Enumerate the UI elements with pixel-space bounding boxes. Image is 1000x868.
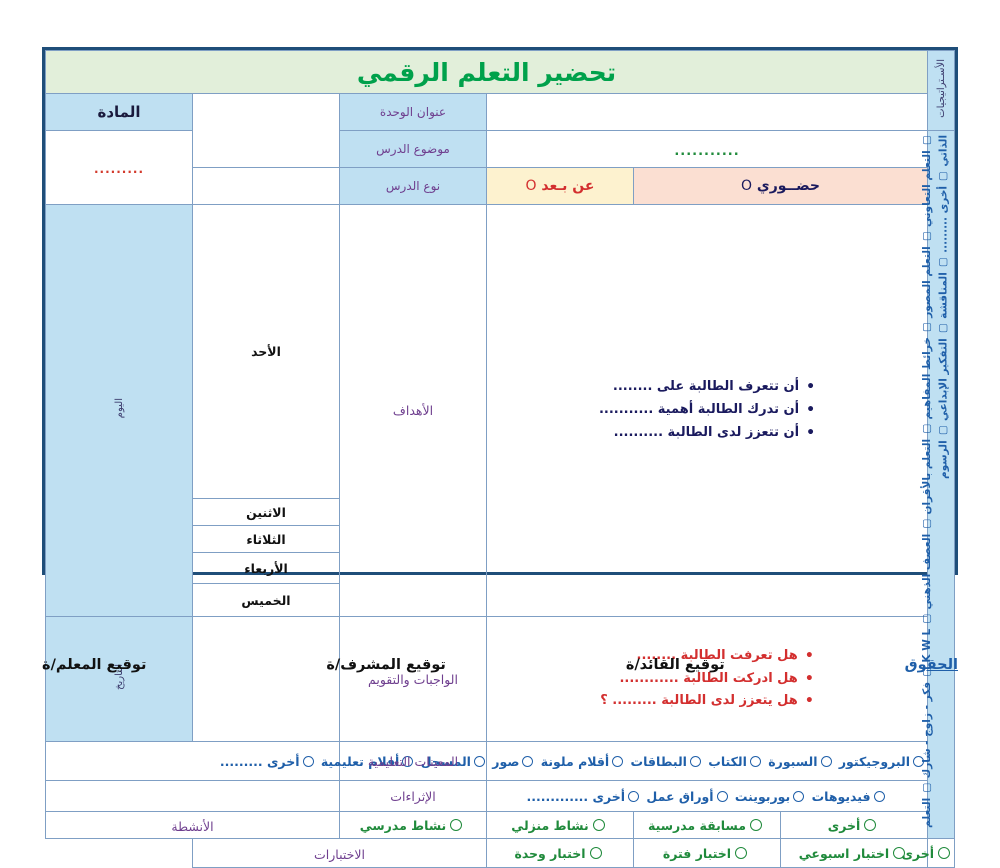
subject-blank-cell[interactable] [193,94,340,168]
day-column-label: اليوم [114,398,125,418]
trailing-dots: ......... [220,754,263,769]
option-label: السبورة [764,754,818,769]
option-label: فيديوهات [807,789,870,804]
day-cell-wednesday[interactable]: الأربعاء [193,553,340,584]
document-title-cell: تحضير التعلم الرقمي [46,51,928,94]
option-label: البطاقات [626,754,687,769]
activity-option-label: أخرى [828,818,861,833]
radio-circle-icon[interactable] [938,847,950,859]
radio-circle-icon[interactable] [874,791,885,802]
activity-option-home[interactable]: نشاط منزلي [487,812,634,839]
test-option-label: اختبار فترة [663,846,731,861]
enrichment-row: فيديوهات بوربوينت أوراق عمل أخرى .......… [46,781,955,812]
radio-circle-icon[interactable] [522,756,533,767]
supervisor-signature-label: توقيع المشرف/ة [326,657,446,673]
day-label-sunday: الأحد [251,344,281,359]
option-label: أقلام ملونة [536,754,609,769]
tests-label: الاختبارات [314,847,365,862]
activity-option-school[interactable]: نشاط مدرسي [340,812,487,839]
evaluation-item: هل يتعزز لدى الطالبة ......... ؟ [600,690,814,713]
lesson-type-remote-cell[interactable]: عن بـعد O [487,168,634,205]
radio-circle-icon[interactable] [821,756,832,767]
teaching-aids-options-cell[interactable]: البروجيكتور السبورة الكتاب البطاقات أقلا… [487,742,928,781]
objectives-list: أن تتعرف الطالبة على ........ أن تدرك ال… [599,376,815,444]
radio-circle-icon[interactable] [864,819,876,831]
lesson-plan-table: الأسـتراتيجيات تحضير التعلم الرقمي عنوان… [45,50,955,868]
day-header-strip: اليوم [46,205,193,617]
strategies-column: ▢ التعلم التعاوني ▢ التعلم المصور ▢ خرائ… [928,131,955,839]
lesson-topic-label: موضوع الدرس [376,142,450,156]
subject-label: المادة [97,103,140,121]
day-cell-thursday[interactable]: الخميس [193,584,340,617]
enrichment-options: فيديوهات بوربوينت أوراق عمل أخرى .......… [526,789,887,804]
activity-option-label: نشاط منزلي [511,818,588,833]
teaching-aids-label: المعينات التعليمية [368,754,458,769]
objective-item: أن تتعرف الطالبة على ........ [599,376,815,399]
option-label: أخرى [588,789,625,804]
radio-circle-icon[interactable] [474,756,485,767]
radio-circle-icon[interactable] [717,791,728,802]
option-label: أخرى [263,754,300,769]
teaching-aids-row: البروجيكتور السبورة الكتاب البطاقات أقلا… [46,742,955,781]
enrichment-blank-cell[interactable] [46,781,340,812]
tests-row: أخرى اختبار اسبوعي اختبار فترة اختبار وح… [46,839,955,868]
option-label: الكتاب [704,754,747,769]
trailing-dots: ............. [526,789,588,804]
lesson-topic-value: ........... [674,144,739,159]
radio-circle-icon[interactable] [590,847,602,859]
unit-title-label-cell: عنوان الوحدة [340,94,487,131]
radio-circle-icon[interactable] [750,756,761,767]
activity-option-other[interactable]: أخرى [781,812,928,839]
lesson-type-onsite-label: حضــوري [757,178,820,194]
option-label: أوراق عمل [642,789,714,804]
objective-item: أن تتعزز لدى الطالبة .......... [599,422,815,445]
strategies-label: الأسـتراتيجيات [936,59,947,118]
radio-circle-icon[interactable] [628,791,639,802]
option-label: بوربوينت [731,789,791,804]
radio-circle-icon[interactable] [793,791,804,802]
enrichment-options-cell[interactable]: فيديوهات بوربوينت أوراق عمل أخرى .......… [487,781,928,812]
day-label-monday: الاثنين [246,505,286,520]
lesson-type-remote-label: عن بـعد [541,178,594,194]
activities-row: أخرى مسابقة مدرسية نشاط منزلي نشاط مدرسي… [46,812,955,839]
radio-circle-icon[interactable] [750,819,762,831]
radio-circle-icon[interactable] [612,756,623,767]
objective-item: أن تدرك الطالبة أهمية ........... [599,399,815,422]
unit-title-label: عنوان الوحدة [380,105,446,119]
unit-title-row: عنوان الوحدة المادة [46,94,955,131]
teacher-signature-label: توقيع المعلم/ة [42,657,146,673]
lesson-topic-value-cell[interactable]: ........... [487,131,928,168]
lesson-topic-label-cell: موضوع الدرس [340,131,487,168]
objectives-label-cell: الأهداف [340,205,487,617]
enrichment-label: الإثراءات [390,789,436,804]
test-option-period[interactable]: اختبار فترة [634,839,781,868]
radio-circle-icon[interactable] [735,847,747,859]
subject-value-cell[interactable]: ......... [46,131,193,205]
activities-label-cell: الأنشطة [46,812,340,839]
lesson-plan-sheet: الأسـتراتيجيات تحضير التعلم الرقمي عنوان… [42,47,958,575]
day-cell-sunday[interactable]: الأحد [193,205,340,499]
objectives-label: الأهداف [393,403,433,418]
activity-option-school-contest[interactable]: مسابقة مدرسية [634,812,781,839]
day-label-tuesday: الثلاثاء [246,532,285,547]
enrichment-label-cell: الإثراءات [340,781,487,812]
strategies-header-strip: الأسـتراتيجيات [928,51,955,131]
test-option-label: اختبار وحدة [514,846,585,861]
activities-label: الأنشطة [171,819,213,834]
option-label: البروجيكتور [835,754,911,769]
radio-circle-icon[interactable] [303,756,314,767]
test-option-weekly[interactable]: اختبار اسبوعي [781,839,928,868]
activity-option-label: نشاط مدرسي [360,818,447,833]
test-option-label: اختبار اسبوعي [799,846,889,861]
radio-circle-icon[interactable] [690,756,701,767]
option-label: صور [488,754,519,769]
signature-footer: توقيع المعلم/ة توقيع المشرف/ة توقيع القا… [42,650,958,680]
day-cell-monday[interactable]: الاثنين [193,499,340,526]
rights-link[interactable]: الحقوق [905,657,958,673]
teaching-aids-options: البروجيكتور السبورة الكتاب البطاقات أقلا… [220,754,927,769]
tests-label-cell: الاختبارات [193,839,487,868]
radio-circle-icon[interactable] [893,847,905,859]
page-title: تحضير التعلم الرقمي [357,58,616,87]
day-label-wednesday: الأربعاء [244,561,288,576]
lesson-type-label-cell: نوع الدرس [340,168,487,205]
subject-label-cell: المادة [46,94,193,131]
objectives-content-cell[interactable]: أن تتعرف الطالبة على ........ أن تدرك ال… [487,205,928,617]
lesson-type-onsite-cell[interactable]: حضــوري O [634,168,928,205]
test-option-other[interactable]: أخرى [928,839,955,868]
strategies-text: ▢ التعلم التعاوني ▢ التعلم المصور ▢ خرائ… [917,131,954,838]
radio-circle-icon[interactable] [450,819,462,831]
test-option-unit[interactable]: اختبار وحدة [487,839,634,868]
leader-signature-label: توقيع القائد/ة [626,657,725,673]
radio-circle-icon[interactable] [593,819,605,831]
day-label-thursday: الخميس [241,593,290,608]
subject-value: ......... [94,162,144,176]
unit-title-value-cell[interactable] [487,94,928,131]
objectives-row-1: أن تتعرف الطالبة على ........ أن تدرك ال… [46,205,955,499]
title-row: الأسـتراتيجيات تحضير التعلم الرقمي [46,51,955,94]
lesson-type-label: نوع الدرس [386,179,440,193]
lesson-topic-row: ▢ التعلم التعاوني ▢ التعلم المصور ▢ خرائ… [46,131,955,168]
activity-option-label: مسابقة مدرسية [648,818,746,833]
day-cell-tuesday[interactable]: الثلاثاء [193,526,340,553]
